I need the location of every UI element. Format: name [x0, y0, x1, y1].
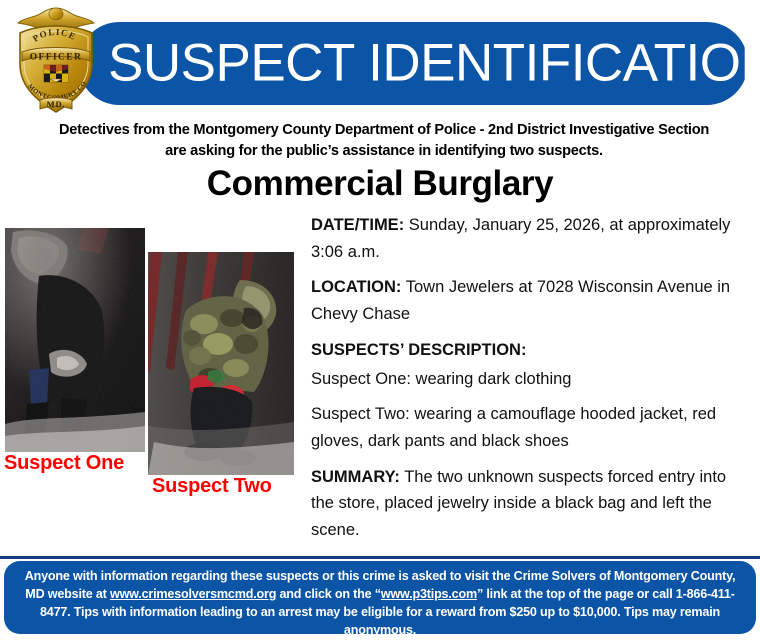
suspect-one-photo — [5, 228, 145, 452]
suspect-two-photo — [148, 252, 294, 475]
header: SUSPECT IDENTIFICATION — [0, 0, 760, 118]
suspect-one-description: Suspect One: wearing dark clothing — [311, 366, 751, 393]
footer-divider — [0, 556, 760, 559]
footer-banner: Anyone with information regarding these … — [4, 561, 756, 634]
p3tips-link[interactable]: www.p3tips.com — [381, 587, 477, 601]
summary-label: SUMMARY: — [311, 468, 400, 486]
footer-text-part2: and click on the “ — [276, 587, 381, 601]
datetime-row: DATE/TIME: Sunday, January 25, 2026, at … — [311, 212, 751, 265]
description-heading: SUSPECTS’ DESCRIPTION: — [311, 337, 751, 364]
header-banner: SUSPECT IDENTIFICATION — [78, 22, 748, 105]
page-title: SUSPECT IDENTIFICATION — [108, 32, 760, 93]
datetime-label: DATE/TIME: — [311, 216, 404, 234]
suspect-two-description: Suspect Two: wearing a camouflage hooded… — [311, 401, 751, 454]
svg-text:MD.: MD. — [47, 99, 66, 109]
summary-row: SUMMARY: The two unknown suspects forced… — [311, 464, 751, 544]
incident-details: DATE/TIME: Sunday, January 25, 2026, at … — [311, 212, 751, 553]
svg-text:OFFICER: OFFICER — [30, 53, 83, 63]
subtitle-text: Detectives from the Montgomery County De… — [48, 120, 720, 161]
suspect-two-caption: Suspect Two — [152, 475, 272, 498]
location-label: LOCATION: — [311, 278, 401, 296]
location-row: LOCATION: Town Jewelers at 7028 Wisconsi… — [311, 274, 751, 327]
suspect-one-caption: Suspect One — [4, 452, 124, 475]
crime-headline: Commercial Burglary — [0, 164, 760, 204]
description-label: SUSPECTS’ DESCRIPTION: — [311, 341, 526, 359]
police-badge-icon: POLICE OFFICER MONTGOMER — [4, 2, 108, 118]
crime-solvers-link[interactable]: www.crimesolversmcmd.org — [110, 587, 276, 601]
